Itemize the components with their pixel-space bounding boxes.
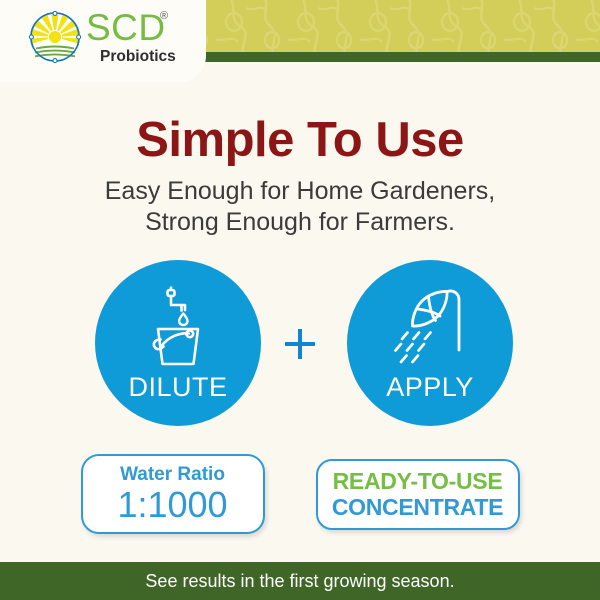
infographic-page: SCD ® Probiotics Simple To Use Easy Enou… [0, 0, 600, 600]
footer-text: See results in the first growing season. [0, 571, 600, 592]
concentrate-line-2: CONCENTRATE [318, 494, 517, 521]
step-dilute-label: DILUTE [95, 372, 261, 403]
step-apply-label: APPLY [347, 372, 513, 403]
water-ratio-caption: Water Ratio [83, 464, 262, 486]
faucet-bucket-icon [135, 282, 221, 368]
step-apply: APPLY [347, 260, 513, 426]
shower-head-icon [387, 282, 473, 368]
page-subtitle-line-1: Easy Enough for Home Gardeners, [0, 176, 600, 207]
page-subtitle: Easy Enough for Home Gardeners, Strong E… [0, 176, 600, 238]
water-ratio-badge: Water Ratio 1:1000 [81, 454, 265, 534]
page-title: Simple To Use [0, 112, 600, 168]
page-subtitle-line-2: Strong Enough for Farmers. [0, 207, 600, 238]
plus-icon [283, 327, 317, 361]
logo-brand-name: SCD [86, 8, 166, 48]
sun-field-circle-logo-icon [28, 10, 82, 64]
logo-wordmark: SCD ® Probiotics [86, 8, 198, 70]
logo-tagline: Probiotics [100, 48, 176, 66]
concentrate-line-1: READY-TO-USE [318, 468, 517, 495]
step-dilute: DILUTE [95, 260, 261, 426]
concentrate-badge: READY-TO-USE CONCENTRATE [316, 459, 520, 530]
water-ratio-value: 1:1000 [83, 484, 262, 526]
footer-bar: See results in the first growing season. [0, 562, 600, 600]
registered-trademark-icon: ® [160, 10, 168, 22]
logo-panel: SCD ® Probiotics [0, 0, 206, 82]
